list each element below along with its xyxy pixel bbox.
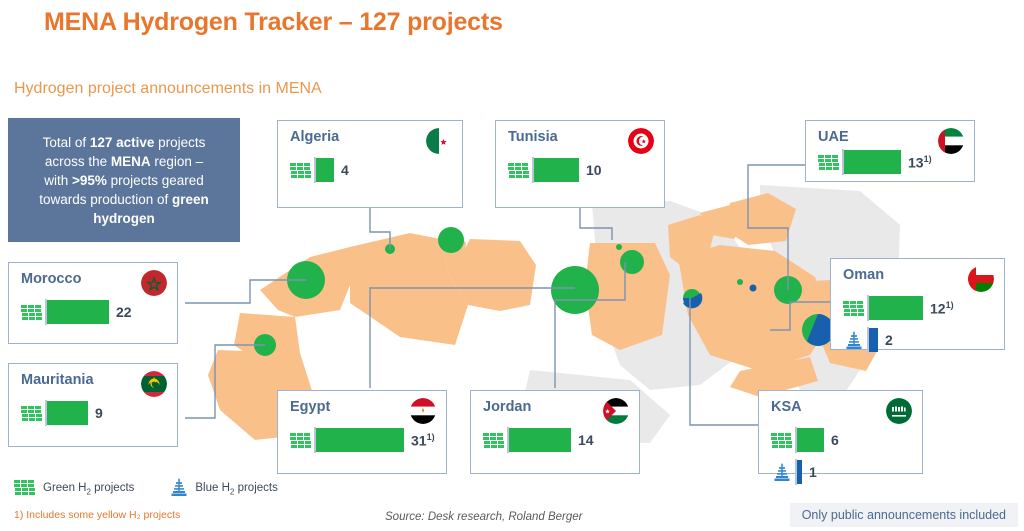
country-name: Oman	[843, 267, 884, 283]
green-row: 6	[769, 425, 916, 455]
card-rows: 9	[19, 398, 171, 428]
green-bar	[316, 158, 334, 182]
drilling-rig-icon	[769, 462, 795, 482]
country-card-algeria[interactable]: Algeria 4	[277, 120, 463, 208]
solar-panel-icon	[506, 162, 532, 179]
green-value: 6	[831, 432, 839, 448]
blue-value: 1	[809, 464, 817, 480]
drilling-rig-icon	[841, 330, 867, 350]
country-card-mauritania[interactable]: Mauritania 9	[8, 363, 178, 447]
flag-mauritania	[141, 371, 167, 397]
legend-item-blue: Blue H2 projects	[170, 477, 277, 502]
summary-text-3c: projects geared	[107, 173, 204, 188]
green-footnote-marker: 1)	[946, 300, 954, 310]
blue-bar-group: 1	[795, 459, 817, 485]
green-row: 121)	[841, 293, 998, 323]
country-name: Mauritania	[21, 372, 94, 388]
green-bar	[869, 296, 923, 320]
legend-blue-label: Blue H2 projects	[195, 482, 277, 496]
green-row: 4	[288, 155, 456, 185]
summary-text-1c: projects	[154, 135, 205, 150]
country-name: Morocco	[21, 271, 81, 287]
green-row: 9	[19, 398, 171, 428]
country-card-oman[interactable]: Oman 121)	[830, 258, 1005, 350]
green-value: 311)	[411, 432, 435, 449]
blue-row: 1	[769, 457, 916, 487]
card-rows: 6 1	[769, 425, 916, 487]
green-bar-group: 9	[45, 400, 103, 426]
card-rows: 131)	[816, 147, 968, 177]
summary-text-2a: across the	[45, 154, 111, 169]
blue-bar-group: 2	[867, 327, 893, 353]
green-value: 14	[578, 432, 594, 448]
summary-text-3a: with	[44, 173, 72, 188]
legend-item-green: Green H2 projects	[14, 479, 134, 501]
public-announcements-note: Only public announcements included	[790, 503, 1018, 527]
bubble-tunisia	[438, 227, 464, 253]
green-bar	[509, 428, 571, 452]
solar-panel-icon	[769, 432, 795, 449]
green-bar-group: 311)	[314, 427, 435, 453]
green-value: 121)	[930, 300, 954, 317]
card-rows: 14	[481, 425, 633, 455]
source-note: Source: Desk research, Roland Berger	[385, 511, 583, 523]
solar-panel-icon	[841, 300, 867, 317]
bubble-bahrain	[750, 285, 757, 292]
bubble-israel	[616, 244, 622, 250]
green-row: 311)	[288, 425, 440, 455]
green-bar-group: 121)	[867, 295, 954, 321]
summary-text-2c: region –	[151, 154, 204, 169]
green-bar	[47, 401, 88, 425]
drilling-rig-icon	[170, 477, 188, 502]
solar-panel-icon	[14, 479, 36, 501]
country-name: Jordan	[483, 399, 531, 415]
solar-panel-icon	[481, 432, 507, 449]
footnote: 1) Includes some yellow H₂ projects	[14, 509, 180, 521]
bubble-jordan	[620, 250, 644, 274]
country-name: Egypt	[290, 399, 330, 415]
green-bar-group: 22	[45, 299, 132, 325]
bubble-qatar	[737, 279, 743, 285]
country-name: Tunisia	[508, 129, 558, 145]
card-rows: 121) 2	[841, 293, 998, 355]
green-bar	[844, 150, 901, 174]
solar-panel-icon	[816, 154, 842, 171]
solar-panel-icon	[288, 432, 314, 449]
country-card-tunisia[interactable]: Tunisia 10	[495, 120, 665, 208]
flag-jordan	[603, 398, 629, 424]
bubble-mauritania	[254, 334, 276, 356]
bubble-morocco	[287, 261, 325, 299]
green-bar-group: 10	[532, 157, 602, 183]
blue-row: 2	[841, 325, 998, 355]
blue-value: 2	[885, 332, 893, 348]
green-row: 22	[19, 297, 171, 327]
flag-ksa	[886, 398, 912, 424]
card-rows: 22	[19, 297, 171, 327]
summary-text-5b: hydrogen	[93, 211, 155, 226]
green-footnote-marker: 1)	[427, 432, 435, 442]
summary-text-3b: >95%	[72, 173, 107, 188]
summary-text-1b: 127 active	[90, 135, 155, 150]
country-card-uae[interactable]: UAE 131)	[805, 120, 975, 182]
green-row: 131)	[816, 147, 968, 177]
green-value: 4	[341, 162, 349, 178]
green-bar	[47, 300, 109, 324]
country-name: KSA	[771, 399, 802, 415]
legend: Green H2 projects Blue H2 projects	[14, 477, 314, 502]
green-bar-group: 6	[795, 427, 839, 453]
country-name: Algeria	[290, 129, 339, 145]
blue-bar	[797, 460, 802, 484]
blue-bar	[869, 328, 878, 352]
country-name: UAE	[818, 129, 849, 145]
flag-morocco	[141, 270, 167, 296]
green-value: 9	[95, 405, 103, 421]
green-bar	[797, 428, 824, 452]
country-card-morocco[interactable]: Morocco 22	[8, 262, 178, 344]
card-rows: 10	[506, 155, 658, 185]
page-title: MENA Hydrogen Tracker – 127 projects	[44, 8, 503, 37]
green-value: 131)	[908, 154, 932, 171]
country-card-ksa[interactable]: KSA 6 1	[758, 390, 923, 474]
solar-panel-icon	[288, 162, 314, 179]
flag-egypt	[410, 398, 436, 424]
summary-text-1a: Total of	[43, 135, 90, 150]
summary-text-4a: towards production of	[39, 192, 172, 207]
page-subtitle: Hydrogen project announcements in MENA	[14, 80, 322, 98]
summary-text-2b: MENA	[111, 154, 151, 169]
green-value: 22	[116, 304, 132, 320]
green-bar-group: 131)	[842, 149, 932, 175]
green-value: 10	[586, 162, 602, 178]
card-rows: 311)	[288, 425, 440, 455]
flag-oman	[968, 266, 994, 292]
country-card-jordan[interactable]: Jordan 14	[470, 390, 640, 474]
country-card-egypt[interactable]: Egypt 311)	[277, 390, 447, 474]
flag-algeria	[426, 128, 452, 154]
green-bar	[534, 158, 579, 182]
green-bar-group: 4	[314, 157, 349, 183]
green-footnote-marker: 1)	[924, 154, 932, 164]
legend-green-label: Green H2 projects	[43, 482, 134, 496]
card-rows: 4	[288, 155, 456, 185]
solar-panel-icon	[19, 405, 45, 422]
bubble-egypt	[551, 266, 599, 314]
green-row: 10	[506, 155, 658, 185]
green-bar-group: 14	[507, 427, 594, 453]
infographic-root: MENA Hydrogen Tracker – 127 projects Hyd…	[0, 0, 1024, 531]
solar-panel-icon	[19, 304, 45, 321]
green-row: 14	[481, 425, 633, 455]
flag-tunisia	[628, 128, 654, 154]
green-bar	[316, 428, 404, 452]
bubble-algeria	[385, 244, 395, 254]
bubble-uae	[774, 276, 802, 304]
